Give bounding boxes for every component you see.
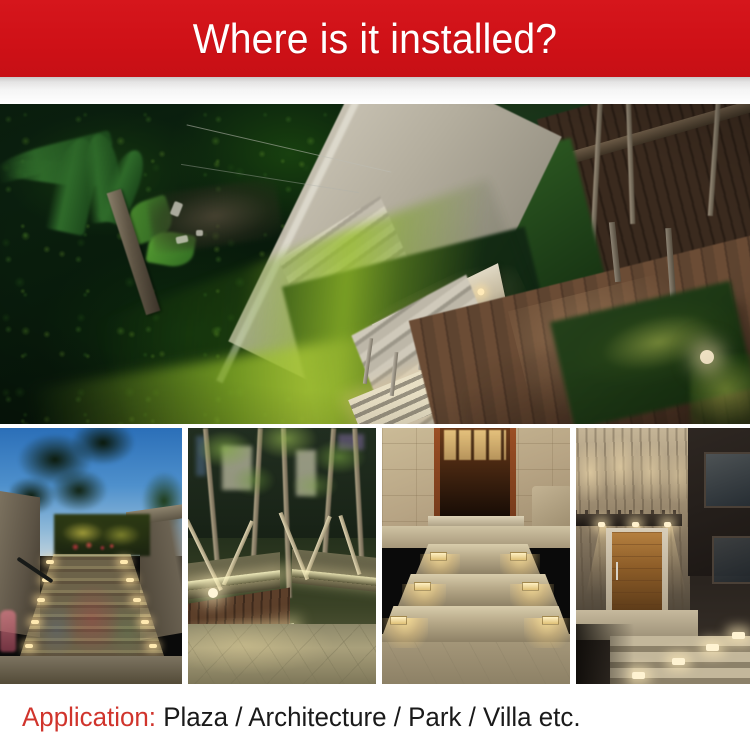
- page-title: Where is it installed?: [193, 17, 557, 61]
- recessed-brick-light: [390, 616, 407, 625]
- application-label: Application:: [22, 702, 156, 732]
- application-line: Application: Plaza / Architecture / Park…: [22, 702, 581, 732]
- timber-entrance-door: [612, 532, 662, 610]
- foreground-shadow: [576, 624, 634, 684]
- recessed-brick-light: [430, 552, 447, 561]
- paving-light-pool: [188, 618, 376, 684]
- recessed-brick-light: [510, 552, 527, 561]
- step-light: [126, 578, 134, 582]
- step-light: [25, 644, 33, 648]
- product-feature-banner: Where is it installed?: [0, 0, 750, 750]
- ground-spot-light: [208, 588, 218, 598]
- recessed-step-light: [706, 644, 719, 651]
- pergola-downlight: [598, 522, 605, 527]
- thumbnail-plaza-staircase: [0, 428, 182, 684]
- application-thumbnail-row: [0, 428, 750, 684]
- application-footer: Application: Plaza / Architecture / Park…: [0, 684, 750, 750]
- tree-canopy: [188, 428, 376, 548]
- recessed-step-light: [732, 632, 745, 639]
- door-glass-panel: [444, 430, 506, 460]
- step-light: [133, 598, 141, 602]
- door-handle: [616, 562, 618, 580]
- header-banner: Where is it installed?: [0, 0, 750, 77]
- hero-spot-light: [700, 350, 714, 364]
- recessed-brick-light: [542, 616, 559, 625]
- step-light: [31, 620, 39, 624]
- step-light: [149, 644, 157, 648]
- hero-debris: [196, 230, 203, 236]
- step-light: [141, 620, 149, 624]
- thumbnail-villa-granite-steps: [382, 428, 570, 684]
- hero-image-night-garden: [0, 104, 750, 424]
- pergola-downlight: [632, 522, 639, 527]
- recessed-brick-light: [414, 582, 431, 591]
- step-light: [46, 560, 54, 564]
- step-light: [476, 287, 485, 296]
- upper-window: [704, 452, 750, 508]
- recessed-step-light: [672, 658, 685, 665]
- step-light: [120, 560, 128, 564]
- recessed-brick-light: [522, 582, 539, 591]
- foreground-paving: [0, 656, 182, 684]
- header-gap: [0, 77, 750, 104]
- step-light: [37, 598, 45, 602]
- flower-bed: [66, 538, 118, 556]
- application-value: Plaza / Architecture / Park / Villa etc.: [163, 702, 580, 732]
- step-light-column-right: [116, 558, 168, 662]
- hero-shrub: [690, 354, 750, 424]
- person-silhouette: [0, 610, 16, 652]
- side-window: [712, 536, 750, 584]
- pergola-downlight: [664, 522, 671, 527]
- thumbnail-modern-villa-entrance: [576, 428, 750, 684]
- thumbnail-park-tree-plaza: [188, 428, 376, 684]
